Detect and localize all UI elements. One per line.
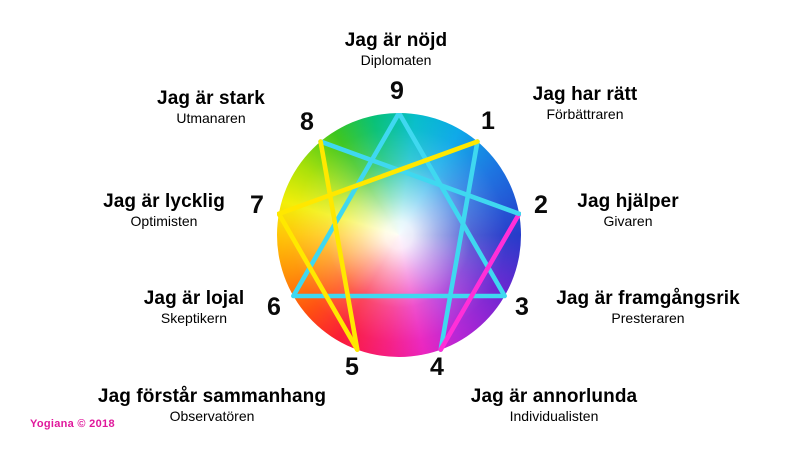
point-title-7: Jag är lycklig <box>64 192 264 212</box>
point-label-9[interactable]: Jag är nöjd Diplomaten <box>296 31 496 68</box>
point-subtitle-9: Diplomaten <box>296 53 496 68</box>
point-label-8[interactable]: Jag är stark Utmanaren <box>111 89 311 126</box>
point-title-5: Jag förstår sammanhang <box>92 387 332 407</box>
point-label-5[interactable]: Jag förstår sammanhang Observatören <box>92 387 332 424</box>
enneagram-lines <box>277 113 521 357</box>
point-label-7[interactable]: Jag är lycklig Optimisten <box>64 192 264 229</box>
watermark: Yogiana © 2018 <box>30 418 115 430</box>
point-subtitle-1: Förbättraren <box>485 107 685 122</box>
enneagram-wheel <box>277 113 521 357</box>
point-title-9: Jag är nöjd <box>296 31 496 51</box>
point-subtitle-3: Presteraren <box>528 311 768 326</box>
point-title-3: Jag är framgångsrik <box>528 289 768 309</box>
point-subtitle-5: Observatören <box>92 409 332 424</box>
enneagram-diagram: 9 1 2 3 4 5 6 7 8 Jag är nöjd Diplomaten… <box>0 0 800 450</box>
point-title-8: Jag är stark <box>111 89 311 109</box>
point-label-4[interactable]: Jag är annorlunda Individualisten <box>444 387 664 424</box>
point-number-9[interactable]: 9 <box>382 76 412 106</box>
point-label-3[interactable]: Jag är framgångsrik Presteraren <box>528 289 768 326</box>
point-label-1[interactable]: Jag har rätt Förbättraren <box>485 85 685 122</box>
point-subtitle-2: Givaren <box>528 214 728 229</box>
point-label-2[interactable]: Jag hjälper Givaren <box>528 192 728 229</box>
point-subtitle-7: Optimisten <box>64 214 264 229</box>
point-number-5[interactable]: 5 <box>337 352 367 382</box>
point-title-4: Jag är annorlunda <box>444 387 664 407</box>
point-title-6: Jag är lojal <box>94 289 294 309</box>
point-number-4[interactable]: 4 <box>422 352 452 382</box>
point-label-6[interactable]: Jag är lojal Skeptikern <box>94 289 294 326</box>
point-title-1: Jag har rätt <box>485 85 685 105</box>
line-triangle-9-3-6 <box>293 113 504 296</box>
point-title-2: Jag hjälper <box>528 192 728 212</box>
point-subtitle-6: Skeptikern <box>94 311 294 326</box>
point-subtitle-8: Utmanaren <box>111 111 311 126</box>
point-subtitle-4: Individualisten <box>444 409 664 424</box>
